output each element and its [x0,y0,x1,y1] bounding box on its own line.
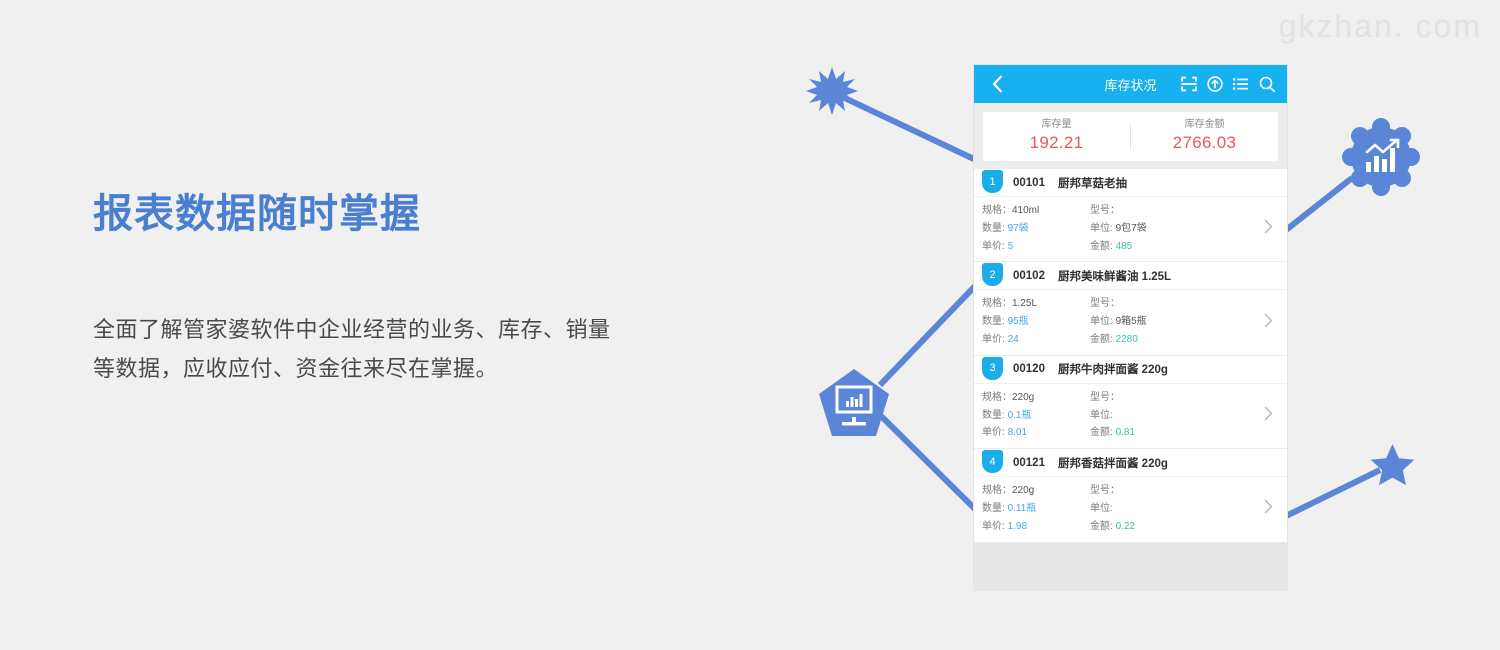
field-label: 数量: [982,223,1005,234]
phone-mockup: 库存状况 [974,65,1287,590]
detail-column-left: 规格：1.25L 数量: 95瓶 单价: 24 [982,295,1090,348]
promo-banner: gkzhan. com 报表数据随时掌握 全面了解管家婆软件中企业经营的业务、库… [0,0,1500,650]
field-value: 9包7袋 [1116,223,1147,234]
field-value: 220g [1012,392,1034,403]
spec-field: 规格：410ml [982,202,1090,220]
row-details: 规格：410ml 数量: 97袋 单价: 5 型号： 单位: 9包7袋 金额: … [974,197,1287,261]
field-value: 0.81 [1116,427,1135,438]
chevron-right-icon[interactable] [1264,219,1273,239]
field-label: 规格： [982,485,1012,496]
chevron-right-icon[interactable] [1264,313,1273,333]
unit-field: 单位: 9包7袋 [1090,220,1220,238]
product-code: 00121 [1013,457,1045,469]
detail-column-right: 型号： 单位: 金额: 0.81 [1090,389,1220,442]
spec-field: 规格：220g [982,389,1090,407]
field-label: 数量: [982,410,1005,421]
kpi-value: 2766.03 [1131,132,1278,155]
row-index-badge: 2 [982,263,1003,286]
table-row[interactable]: 4 00121 厨邦香菇拌面酱 220g 规格：220g 数量: 0.11瓶 单… [974,449,1287,542]
product-name: 厨邦香菇拌面酱 220g [1058,455,1168,471]
field-label: 数量: [982,316,1005,327]
field-label: 型号： [1090,392,1120,403]
scan-frame-icon[interactable] [1181,76,1197,92]
row-header: 1 00101 厨邦草菇老抽 [974,169,1287,197]
field-value: 5 [1008,241,1014,252]
qty-field: 数量: 95瓶 [982,313,1090,331]
field-value: 24 [1008,334,1019,345]
row-details: 规格：220g 数量: 0.11瓶 单价: 1.98 型号： 单位: 金额: 0… [974,477,1287,541]
field-label: 单位: [1090,223,1113,234]
starburst-icon [806,65,858,117]
navbar-actions [1181,76,1275,92]
row-header: 4 00121 厨邦香菇拌面酱 220g [974,449,1287,477]
product-code: 00101 [1013,177,1045,189]
inventory-list: 1 00101 厨邦草菇老抽 规格：410ml 数量: 97袋 单价: 5 型号… [974,169,1287,543]
chevron-right-icon[interactable] [1264,499,1273,519]
field-label: 单价: [982,334,1005,345]
kpi-label: 库存量 [983,118,1130,132]
arrow-up-circle-icon[interactable] [1207,76,1223,92]
row-details: 规格：1.25L 数量: 95瓶 单价: 24 型号： 单位: 9箱5瓶 金额:… [974,290,1287,354]
field-label: 单位: [1090,503,1113,514]
unit-field: 单位: 9箱5瓶 [1090,313,1220,331]
field-value: 9箱5瓶 [1116,316,1147,327]
qty-field: 数量: 0.1瓶 [982,407,1090,425]
product-code: 00102 [1013,270,1045,282]
unit-field: 单位: [1090,500,1220,518]
field-value: 97袋 [1008,223,1029,234]
spec-field: 规格：220g [982,482,1090,500]
qty-field: 数量: 97袋 [982,220,1090,238]
field-value: 1.25L [1012,298,1037,309]
field-label: 规格： [982,392,1012,403]
row-index-badge: 4 [982,450,1003,473]
model-field: 型号： [1090,482,1220,500]
field-label: 单价: [982,241,1005,252]
summary-card: 库存量 192.21 库存金额 2766.03 [983,112,1278,161]
price-field: 单价: 5 [982,238,1090,256]
chart-badge-icon [1342,118,1420,196]
field-label: 金额: [1090,427,1113,438]
row-details: 规格：220g 数量: 0.1瓶 单价: 8.01 型号： 单位: 金额: 0.… [974,384,1287,448]
field-label: 型号： [1090,205,1120,216]
monitor-badge-icon [818,368,890,438]
star-icon [1370,443,1415,486]
model-field: 型号： [1090,389,1220,407]
product-name: 厨邦草菇老抽 [1058,175,1127,191]
detail-column-left: 规格：220g 数量: 0.1瓶 单价: 8.01 [982,389,1090,442]
list-icon[interactable] [1233,76,1249,92]
list-footer-space [974,543,1287,590]
product-name: 厨邦牛肉拌面酱 220g [1058,361,1168,377]
field-value: 95瓶 [1008,316,1029,327]
row-header: 3 00120 厨邦牛肉拌面酱 220g [974,356,1287,384]
kpi-label: 库存金额 [1131,118,1278,132]
detail-column-right: 型号： 单位: 9包7袋 金额: 485 [1090,202,1220,255]
model-field: 型号： [1090,202,1220,220]
field-value: 0.1瓶 [1008,410,1032,421]
product-name: 厨邦美味鲜酱油 1.25L [1058,268,1171,284]
detail-column-right: 型号： 单位: 9箱5瓶 金额: 2280 [1090,295,1220,348]
field-value: 2280 [1116,334,1138,345]
app-navbar: 库存状况 [974,65,1287,103]
field-label: 单位: [1090,316,1113,327]
product-code: 00120 [1013,363,1045,375]
field-value: 8.01 [1008,427,1027,438]
row-index-badge: 3 [982,357,1003,380]
field-label: 数量: [982,503,1005,514]
price-field: 单价: 1.98 [982,518,1090,536]
chevron-left-icon[interactable] [986,75,1008,93]
field-label: 型号： [1090,485,1120,496]
detail-column-left: 规格：410ml 数量: 97袋 单价: 5 [982,202,1090,255]
chevron-right-icon[interactable] [1264,406,1273,426]
kpi-stock-quantity: 库存量 192.21 [983,118,1130,155]
field-value: 0.22 [1116,521,1135,532]
field-label: 金额: [1090,334,1113,345]
table-row[interactable]: 1 00101 厨邦草菇老抽 规格：410ml 数量: 97袋 单价: 5 型号… [974,169,1287,262]
detail-column-left: 规格：220g 数量: 0.11瓶 单价: 1.98 [982,482,1090,535]
field-value: 1.98 [1008,521,1027,532]
row-index-badge: 1 [982,170,1003,193]
table-row[interactable]: 2 00102 厨邦美味鲜酱油 1.25L 规格：1.25L 数量: 95瓶 单… [974,262,1287,355]
field-value: 485 [1116,241,1133,252]
field-label: 型号： [1090,298,1120,309]
price-field: 单价: 24 [982,331,1090,349]
amount-field: 金额: 0.81 [1090,424,1220,442]
amount-field: 金额: 2280 [1090,331,1220,349]
kpi-stock-amount: 库存金额 2766.03 [1131,118,1278,155]
amount-field: 金额: 485 [1090,238,1220,256]
qty-field: 数量: 0.11瓶 [982,500,1090,518]
field-label: 金额: [1090,521,1113,532]
model-field: 型号： [1090,295,1220,313]
search-icon[interactable] [1259,76,1275,92]
field-label: 规格： [982,205,1012,216]
price-field: 单价: 8.01 [982,424,1090,442]
field-value: 0.11瓶 [1008,503,1037,514]
field-label: 规格： [982,298,1012,309]
kpi-value: 192.21 [983,132,1130,155]
field-label: 单位: [1090,410,1113,421]
field-label: 单价: [982,427,1005,438]
spec-field: 规格：1.25L [982,295,1090,313]
detail-column-right: 型号： 单位: 金额: 0.22 [1090,482,1220,535]
table-row[interactable]: 3 00120 厨邦牛肉拌面酱 220g 规格：220g 数量: 0.1瓶 单价… [974,356,1287,449]
field-label: 单价: [982,521,1005,532]
field-label: 金额: [1090,241,1113,252]
amount-field: 金额: 0.22 [1090,518,1220,536]
row-header: 2 00102 厨邦美味鲜酱油 1.25L [974,262,1287,290]
unit-field: 单位: [1090,407,1220,425]
field-value: 410ml [1012,205,1039,216]
field-value: 220g [1012,485,1034,496]
